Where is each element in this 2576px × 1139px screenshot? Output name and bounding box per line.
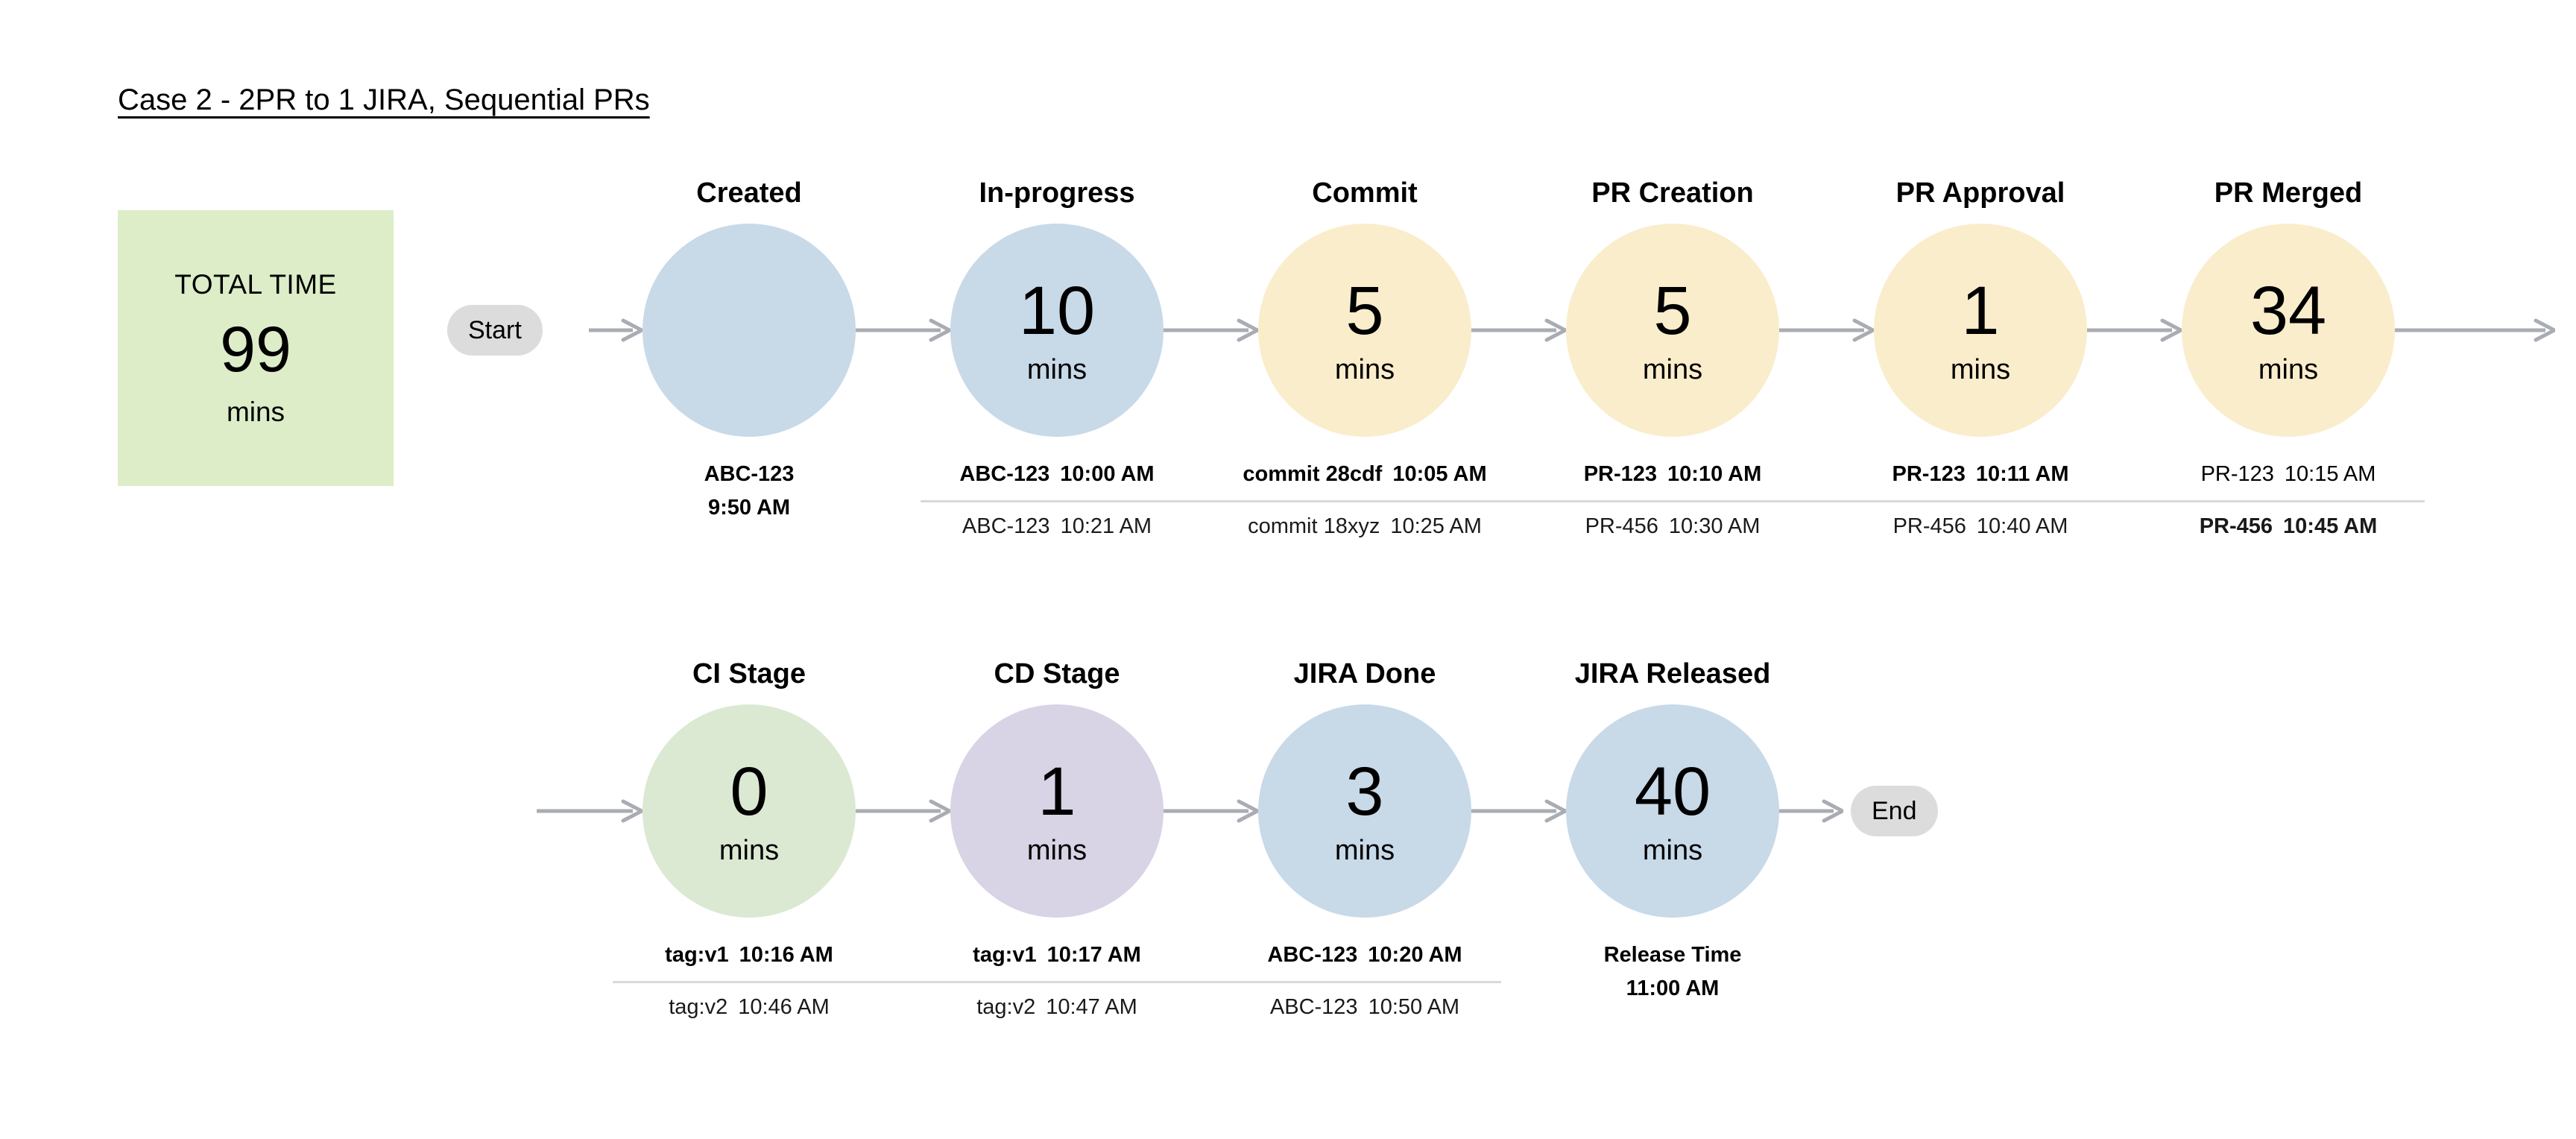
- arrow-row-continuation-in: [537, 798, 643, 824]
- node-label-time: 10:17 AM: [1047, 943, 1141, 967]
- node-label-time: 10:20 AM: [1368, 943, 1462, 967]
- node-label-line: Release Time: [1536, 944, 1809, 978]
- node-label-id: ABC-123: [1267, 943, 1357, 967]
- node-duration-value: 5: [1653, 277, 1691, 345]
- node-duration-unit: mins: [1643, 836, 1702, 865]
- node-label-time: 10:10 AM: [1667, 462, 1761, 486]
- node-circle-jira-done[interactable]: 3mins: [1258, 704, 1471, 918]
- node-label-id: PR-123: [2201, 462, 2274, 486]
- node-label-line: 9:50 AM: [613, 497, 885, 519]
- node-label-id: commit 28cdf: [1243, 462, 1382, 486]
- arrow-cd-stage-to-jira-done: [1164, 798, 1258, 824]
- node-label-id: PR-456: [1893, 514, 1966, 538]
- node-label-time: 10:21 AM: [1061, 514, 1152, 538]
- node-label-id: ABC-123: [959, 462, 1049, 486]
- arrow-created-to-in-progress: [856, 318, 950, 343]
- node-duration-value: 1: [1038, 757, 1076, 826]
- node-circle-pr-creation[interactable]: 5mins: [1566, 224, 1779, 437]
- end-pill[interactable]: End: [1851, 786, 1938, 836]
- node-label-line: ABC-12310:21 AM: [921, 500, 1193, 537]
- node-label-time: 10:16 AM: [739, 943, 833, 967]
- node-duration-unit: mins: [1335, 836, 1395, 865]
- node-duration-unit: mins: [1951, 356, 2010, 384]
- node-labels-created: ABC-1239:50 AM: [613, 464, 885, 519]
- node-label-line: tag:v210:46 AM: [613, 981, 885, 1018]
- node-header-pr-creation: PR Creation: [1566, 179, 1779, 207]
- node-label-id: tag:v1: [973, 943, 1036, 967]
- node-labels-jira-released: Release Time11:00 AM: [1536, 944, 1809, 1000]
- node-duration-value: 10: [1019, 277, 1095, 345]
- node-duration-unit: mins: [1643, 356, 1702, 384]
- node-circle-cd-stage[interactable]: 1mins: [950, 704, 1164, 918]
- arrow-jira-released-to-end: [1779, 798, 1843, 824]
- node-header-in-progress: In-progress: [950, 179, 1164, 207]
- arrow-row-continuation-out: [2395, 318, 2555, 343]
- node-circle-ci-stage[interactable]: 0mins: [643, 704, 856, 918]
- node-duration-unit: mins: [2258, 356, 2318, 384]
- node-label-line: PR-45610:40 AM: [1844, 500, 2117, 537]
- flow-row-2: CI Stage0minstag:v110:16 AMtag:v210:46 A…: [0, 0, 2576, 1]
- node-label-line: ABC-12310:20 AM: [1228, 944, 1501, 981]
- node-label-line: 11:00 AM: [1536, 978, 1809, 1000]
- node-circle-jira-released[interactable]: 40mins: [1566, 704, 1779, 918]
- node-label-line: PR-12310:15 AM: [2152, 464, 2425, 500]
- node-label-id: commit 18xyz: [1248, 514, 1380, 538]
- node-circle-created[interactable]: [643, 224, 856, 437]
- node-label-line: tag:v210:47 AM: [921, 981, 1193, 1018]
- node-header-created: Created: [643, 179, 856, 207]
- node-label-id: tag:v2: [669, 995, 727, 1019]
- node-label-time: 10:40 AM: [1977, 514, 2068, 538]
- node-header-pr-approval: PR Approval: [1874, 179, 2087, 207]
- node-header-jira-released: JIRA Released: [1566, 660, 1779, 688]
- node-duration-value: 1: [1961, 277, 1999, 345]
- node-header-cd-stage: CD Stage: [950, 660, 1164, 688]
- node-label-line: ABC-12310:50 AM: [1228, 981, 1501, 1018]
- arrow-commit-to-pr-creation: [1471, 318, 1566, 343]
- arrow-start-to-created: [589, 318, 643, 343]
- node-circle-pr-merged[interactable]: 34mins: [2182, 224, 2395, 437]
- node-label-id: PR-123: [1892, 462, 1966, 486]
- node-label-line: PR-12310:10 AM: [1536, 464, 1809, 500]
- node-duration-value: 3: [1345, 757, 1383, 826]
- node-header-jira-done: JIRA Done: [1258, 660, 1471, 688]
- node-label-time: 10:15 AM: [2285, 462, 2376, 486]
- node-label-time: 10:25 AM: [1390, 514, 1482, 538]
- node-label-line: commit 18xyz10:25 AM: [1228, 500, 1501, 537]
- node-label-id: PR-456: [2200, 514, 2273, 538]
- node-duration-unit: mins: [1027, 356, 1087, 384]
- total-time-unit: mins: [227, 398, 285, 426]
- arrow-jira-done-to-jira-released: [1471, 798, 1566, 824]
- node-label-line: ABC-12310:00 AM: [921, 464, 1193, 500]
- node-label-id: PR-456: [1585, 514, 1658, 538]
- node-label-time: 10:05 AM: [1392, 462, 1486, 486]
- page-title: Case 2 - 2PR to 1 JIRA, Sequential PRs: [118, 83, 650, 117]
- node-label-line: PR-12310:11 AM: [1844, 464, 2117, 500]
- node-label-id: ABC-123: [962, 514, 1050, 538]
- node-label-line: PR-45610:30 AM: [1536, 500, 1809, 537]
- node-circle-commit[interactable]: 5mins: [1258, 224, 1471, 437]
- arrow-pr-creation-to-pr-approval: [1779, 318, 1874, 343]
- node-label-time: 10:45 AM: [2283, 514, 2377, 538]
- node-duration-value: 5: [1345, 277, 1383, 345]
- node-header-commit: Commit: [1258, 179, 1471, 207]
- node-circle-pr-approval[interactable]: 1mins: [1874, 224, 2087, 437]
- node-label-time: 10:47 AM: [1046, 995, 1137, 1019]
- node-label-time: 10:46 AM: [738, 995, 830, 1019]
- node-label-line: commit 28cdf10:05 AM: [1228, 464, 1501, 500]
- node-label-time: 10:50 AM: [1368, 995, 1460, 1019]
- node-header-pr-merged: PR Merged: [2182, 179, 2395, 207]
- node-label-line: PR-45610:45 AM: [2152, 500, 2425, 537]
- node-duration-value: 0: [730, 757, 768, 826]
- node-label-id: tag:v2: [976, 995, 1035, 1019]
- node-label-time: 10:11 AM: [1976, 462, 2069, 486]
- arrow-pr-approval-to-pr-merged: [2087, 318, 2182, 343]
- total-time-card: TOTAL TIME 99 mins: [118, 210, 394, 486]
- total-time-label: TOTAL TIME: [174, 271, 336, 298]
- node-label-time: 10:30 AM: [1669, 514, 1761, 538]
- node-label-id: ABC-123: [1270, 995, 1358, 1019]
- node-circle-in-progress[interactable]: 10mins: [950, 224, 1164, 437]
- node-duration-unit: mins: [1335, 356, 1395, 384]
- node-label-line: ABC-123: [613, 464, 885, 497]
- arrow-in-progress-to-commit: [1164, 318, 1258, 343]
- node-label-id: tag:v1: [665, 943, 728, 967]
- node-header-ci-stage: CI Stage: [643, 660, 856, 688]
- node-duration-value: 34: [2250, 277, 2326, 345]
- arrow-ci-stage-to-cd-stage: [856, 798, 950, 824]
- node-label-line: tag:v110:17 AM: [921, 944, 1193, 981]
- node-label-line: tag:v110:16 AM: [613, 944, 885, 981]
- total-time-value: 99: [220, 318, 291, 382]
- node-duration-value: 40: [1635, 757, 1711, 826]
- start-pill[interactable]: Start: [447, 305, 543, 356]
- node-duration-unit: mins: [1027, 836, 1087, 865]
- node-labels-divider: [921, 500, 2425, 502]
- node-labels-divider: [613, 981, 1501, 983]
- node-label-time: 10:00 AM: [1060, 462, 1154, 486]
- node-duration-unit: mins: [719, 836, 779, 865]
- node-label-id: PR-123: [1584, 462, 1657, 486]
